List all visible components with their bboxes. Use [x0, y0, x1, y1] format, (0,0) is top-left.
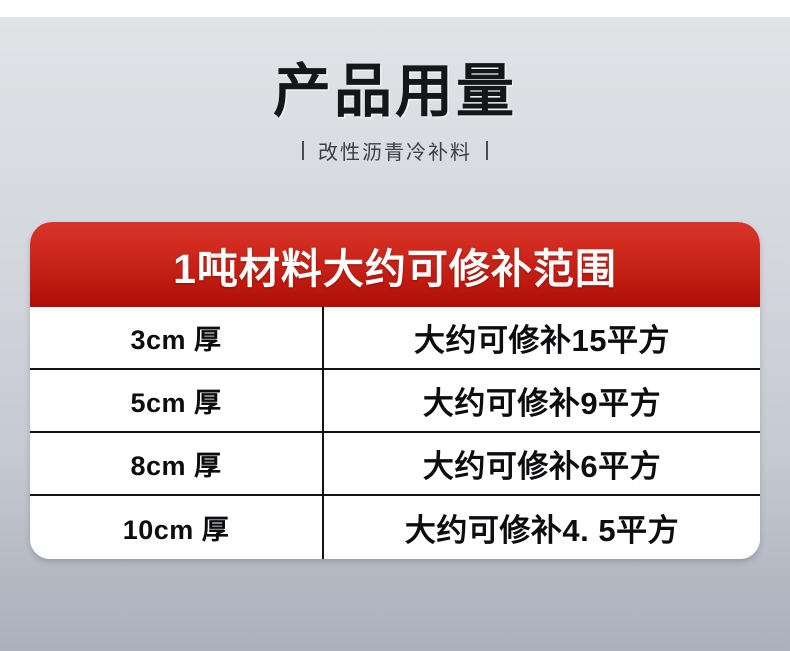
area-value: 大约可修补6平方 — [423, 441, 661, 486]
subtitle-separator-left-icon — [302, 141, 304, 160]
table-row: 5cm 厚 大约可修补9平方 — [30, 370, 760, 433]
subtitle-text: 改性沥青冷补料 — [318, 136, 472, 165]
cell-thickness: 5cm 厚 — [30, 370, 324, 431]
area-value: 大约可修补15平方 — [414, 315, 670, 360]
page-title: 产品用量 — [0, 60, 790, 124]
table-header-title: 1吨材料大约可修补范围 — [173, 235, 617, 295]
area-value: 大约可修补9平方 — [423, 378, 661, 423]
table-row: 3cm 厚 大约可修补15平方 — [30, 307, 760, 370]
thickness-value: 8cm 厚 — [130, 444, 221, 483]
usage-table-card: 1吨材料大约可修补范围 3cm 厚 大约可修补15平方 5cm 厚 大约可修补9… — [30, 222, 760, 559]
cell-area: 大约可修补6平方 — [324, 433, 760, 494]
cell-thickness: 10cm 厚 — [30, 496, 324, 559]
table-body: 3cm 厚 大约可修补15平方 5cm 厚 大约可修补9平方 8cm 厚 — [30, 307, 760, 559]
top-white-strip — [0, 0, 790, 17]
subtitle-separator-right-icon — [486, 141, 488, 160]
cell-area: 大约可修补15平方 — [324, 307, 760, 368]
header-block: 产品用量 改性沥青冷补料 — [0, 60, 790, 165]
thickness-value: 3cm 厚 — [130, 318, 221, 357]
table-header-band: 1吨材料大约可修补范围 — [30, 222, 760, 307]
table-row: 10cm 厚 大约可修补4. 5平方 — [30, 496, 760, 559]
thickness-value: 5cm 厚 — [130, 381, 221, 420]
cell-thickness: 3cm 厚 — [30, 307, 324, 368]
cell-area: 大约可修补4. 5平方 — [324, 496, 760, 559]
cell-thickness: 8cm 厚 — [30, 433, 324, 494]
cell-area: 大约可修补9平方 — [324, 370, 760, 431]
subtitle-row: 改性沥青冷补料 — [0, 136, 790, 165]
thickness-value: 10cm 厚 — [123, 508, 230, 547]
product-usage-infographic: 产品用量 改性沥青冷补料 1吨材料大约可修补范围 3cm 厚 大约可修补15平方 — [0, 0, 790, 651]
area-value: 大约可修补4. 5平方 — [405, 505, 679, 550]
table-row: 8cm 厚 大约可修补6平方 — [30, 433, 760, 496]
